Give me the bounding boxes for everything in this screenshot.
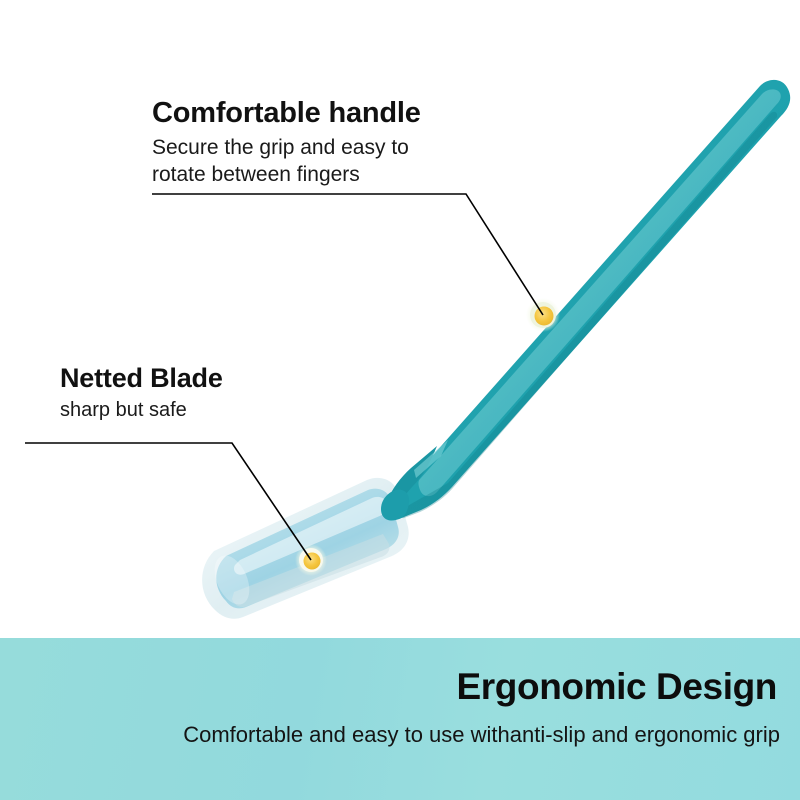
callout-comfortable-handle: Comfortable handle Secure the grip and e… bbox=[152, 96, 452, 189]
callout-handle-subtitle-line1: Secure the grip and easy to bbox=[152, 135, 452, 162]
callout-handle-subtitle: Secure the grip and easy to rotate betwe… bbox=[152, 135, 452, 189]
blade-marker-dot bbox=[295, 544, 327, 576]
product-infographic: Comfortable handle Secure the grip and e… bbox=[0, 0, 800, 800]
bottom-banner: Ergonomic Design Comfortable and easy to… bbox=[0, 638, 800, 800]
banner-heading: Ergonomic Design bbox=[457, 666, 777, 708]
callout-blade-subtitle: sharp but safe bbox=[60, 398, 223, 424]
callout-netted-blade: Netted Blade sharp but safe bbox=[60, 362, 223, 424]
callout-blade-title: Netted Blade bbox=[60, 362, 223, 394]
handle-marker-dot bbox=[526, 298, 560, 332]
banner-subheading: Comfortable and easy to use withanti-sli… bbox=[183, 722, 780, 748]
callout-handle-title: Comfortable handle bbox=[152, 96, 452, 130]
callout-handle-subtitle-line2: rotate between fingers bbox=[152, 162, 452, 189]
